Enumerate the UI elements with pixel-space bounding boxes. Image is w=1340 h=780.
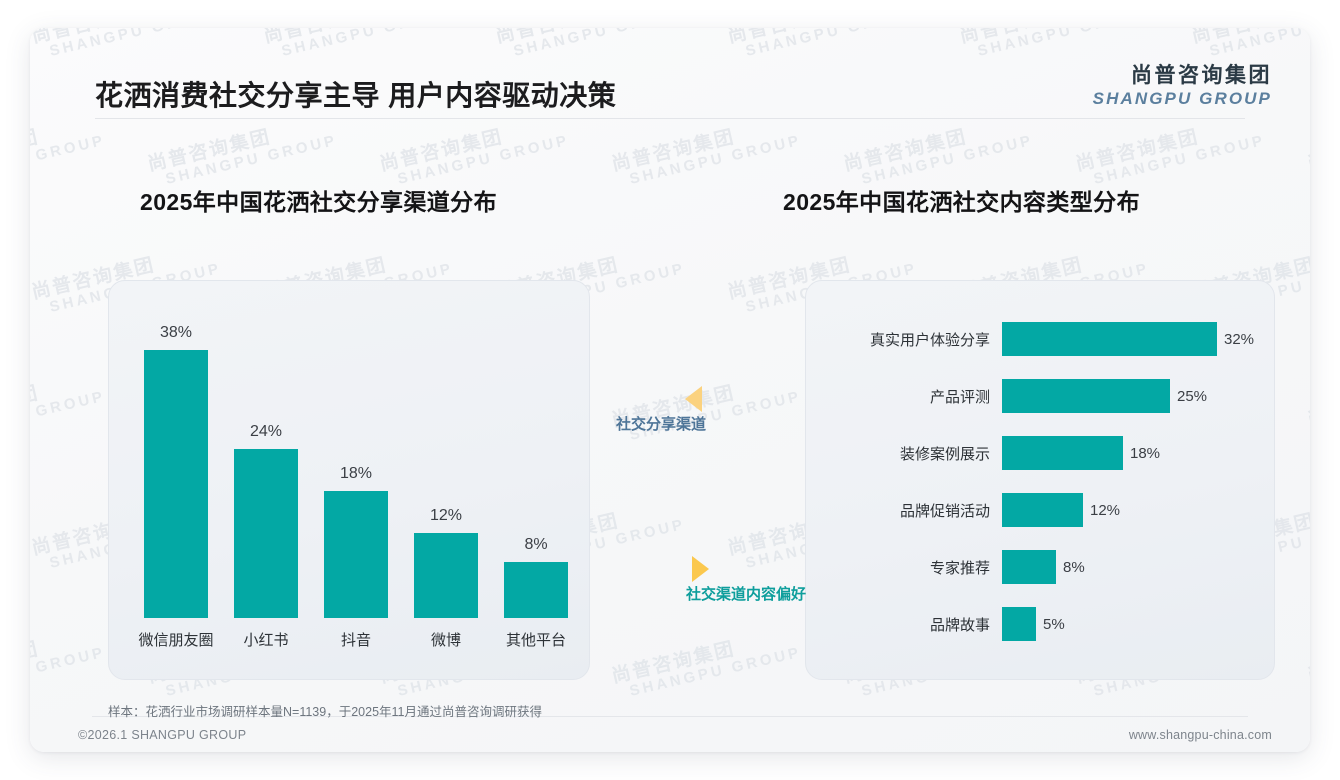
footer-website: www.shangpu-china.com	[1129, 728, 1272, 742]
horizontal-bar[interactable]	[1002, 379, 1170, 413]
horizontal-bar-category-label: 品牌促销活动	[805, 500, 1002, 521]
horizontal-bar-category-label: 品牌故事	[805, 614, 1002, 635]
watermark-tile: 尚普咨询集团SHANGPU GROUP	[30, 113, 107, 191]
horizontal-bar-category-label: 真实用户体验分享	[805, 329, 1002, 350]
vertical-bar-value: 12%	[414, 507, 478, 525]
watermark-tile: 尚普咨询集团SHANGPU GROUP	[378, 113, 571, 191]
watermark-tile: 尚普咨询集团SHANGPU GROUP	[146, 113, 339, 191]
horizontal-bar-value: 32%	[1224, 331, 1254, 348]
left-chart-title: 2025年中国花洒社交分享渠道分布	[140, 183, 497, 217]
vertical-bar-value: 38%	[144, 324, 208, 342]
footer-copyright: ©2026.1 SHANGPU GROUP	[78, 728, 246, 742]
watermark-tile: 尚普咨询集团SHANGPU GROUP	[1306, 369, 1310, 447]
horizontal-bar[interactable]	[1002, 322, 1217, 356]
slide-canvas: 尚普咨询集团SHANGPU GROUP尚普咨询集团SHANGPU GROUP尚普…	[30, 28, 1310, 752]
horizontal-bar-item[interactable]: 产品评测25%	[805, 379, 1273, 413]
brand-name-en: SHANGPU GROUP	[1093, 89, 1272, 108]
vertical-bar-item[interactable]: 12%微博	[414, 533, 478, 618]
vertical-bar-item[interactable]: 8%其他平台	[504, 562, 568, 618]
watermark-tile: 尚普咨询集团SHANGPU GROUP	[30, 625, 107, 703]
horizontal-bar-value: 8%	[1063, 559, 1085, 576]
annotation-channel-content-preference: 社交渠道内容偏好	[686, 556, 806, 604]
triangle-right-icon	[692, 556, 709, 582]
watermark-tile: 尚普咨询集团SHANGPU GROUP	[610, 113, 803, 191]
vertical-bar-item[interactable]: 18%抖音	[324, 491, 388, 618]
header-divider	[95, 118, 1245, 119]
vertical-bar-value: 8%	[504, 536, 568, 554]
social-content-type-bar-chart: 真实用户体验分享32%产品评测25%装修案例展示18%品牌促销活动12%专家推荐…	[805, 280, 1273, 678]
horizontal-bar-item[interactable]: 品牌故事5%	[805, 607, 1273, 641]
vertical-bar[interactable]	[504, 562, 568, 618]
vertical-bar-value: 18%	[324, 465, 388, 483]
vertical-bar-category-label: 其他平台	[482, 629, 590, 650]
watermark-tile: 尚普咨询集团SHANGPU GROUP	[1306, 625, 1310, 703]
slide-header: 花洒消费社交分享主导 用户内容驱动决策 尚普咨询集团 SHANGPU GROUP	[30, 28, 1310, 120]
vertical-bar[interactable]	[234, 449, 298, 618]
horizontal-bar-category-label: 专家推荐	[805, 557, 1002, 578]
sample-footnote: 样本：花洒行业市场调研样本量N=1139，于2025年11月通过尚普咨询调研获得	[108, 701, 542, 720]
horizontal-bar-value: 5%	[1043, 616, 1065, 633]
watermark-tile: 尚普咨询集团SHANGPU GROUP	[1074, 113, 1267, 191]
horizontal-bar[interactable]	[1002, 493, 1083, 527]
vertical-bar-item[interactable]: 38%微信朋友圈	[144, 350, 208, 618]
horizontal-bar-value: 12%	[1090, 502, 1120, 519]
social-share-channel-bar-chart: 38%微信朋友圈24%小红书18%抖音12%微博8%其他平台	[108, 280, 588, 678]
horizontal-bar-value: 25%	[1177, 388, 1207, 405]
horizontal-bar-item[interactable]: 真实用户体验分享32%	[805, 322, 1273, 356]
horizontal-bar-item[interactable]: 专家推荐8%	[805, 550, 1273, 584]
watermark-tile: 尚普咨询集团SHANGPU GROUP	[842, 113, 1035, 191]
watermark-tile: 尚普咨询集团SHANGPU GROUP	[610, 625, 803, 703]
vertical-bar[interactable]	[414, 533, 478, 618]
right-chart-title: 2025年中国花洒社交内容类型分布	[783, 183, 1140, 217]
horizontal-bar-value: 18%	[1130, 445, 1160, 462]
brand-logo: 尚普咨询集团 SHANGPU GROUP	[1093, 64, 1272, 108]
vertical-bar[interactable]	[144, 350, 208, 618]
triangle-left-icon	[685, 386, 702, 412]
annotation-social-share-channel: 社交分享渠道	[616, 386, 706, 434]
vertical-bar[interactable]	[324, 491, 388, 618]
horizontal-bar-category-label: 装修案例展示	[805, 443, 1002, 464]
vertical-bar-value: 24%	[234, 423, 298, 441]
horizontal-bar-category-label: 产品评测	[805, 386, 1002, 407]
page-title: 花洒消费社交分享主导 用户内容驱动决策	[95, 74, 616, 114]
brand-name-cn: 尚普咨询集团	[1093, 64, 1272, 88]
annotation-preference-label: 社交渠道内容偏好	[686, 583, 806, 604]
watermark-tile: 尚普咨询集团SHANGPU GROUP	[1306, 113, 1310, 191]
annotation-channel-label: 社交分享渠道	[616, 413, 706, 434]
horizontal-bar[interactable]	[1002, 436, 1123, 470]
horizontal-bar[interactable]	[1002, 550, 1056, 584]
watermark-tile: 尚普咨询集团SHANGPU GROUP	[30, 369, 107, 447]
horizontal-bar-item[interactable]: 品牌促销活动12%	[805, 493, 1273, 527]
horizontal-bar[interactable]	[1002, 607, 1036, 641]
slide-footer: ©2026.1 SHANGPU GROUP www.shangpu-china.…	[30, 720, 1310, 752]
vertical-bar-item[interactable]: 24%小红书	[234, 449, 298, 618]
horizontal-bar-item[interactable]: 装修案例展示18%	[805, 436, 1273, 470]
